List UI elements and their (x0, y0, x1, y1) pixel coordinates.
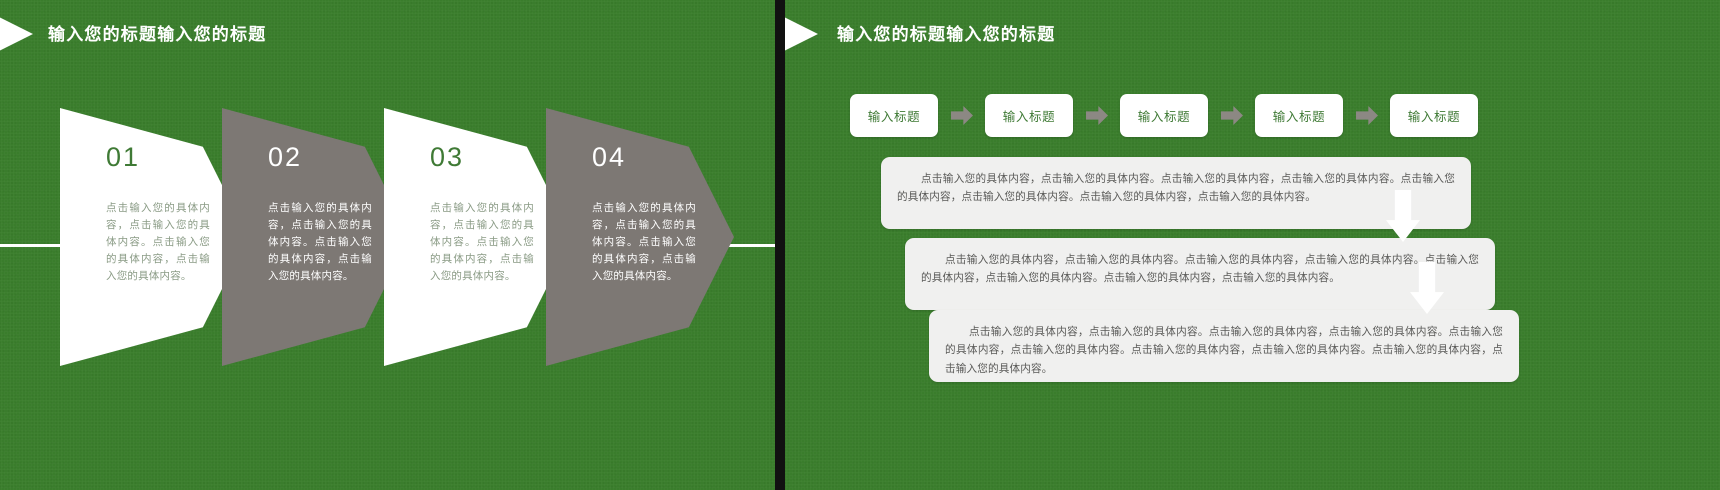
step-box-1[interactable]: 输入标题 (850, 94, 938, 137)
chevron-card-body: 点击输入您的具体内容，点击输入您的具体内容。点击输入您的具体内容，点击输入您的具… (106, 200, 210, 285)
step-box-4[interactable]: 输入标题 (1255, 94, 1343, 137)
slide-gap-divider (775, 0, 785, 490)
content-panel-3[interactable]: 点击输入您的具体内容，点击输入您的具体内容。点击输入您的具体内容，点击输入您的具… (929, 310, 1519, 382)
slide-left: 输入您的标题输入您的标题 01 点击输入您的具体内容，点击输入您的具体内容。点击… (0, 0, 775, 490)
arrow-right-icon (1221, 106, 1243, 125)
chevron-card-01[interactable]: 01 点击输入您的具体内容，点击输入您的具体内容。点击输入您的具体内容，点击输入… (60, 108, 248, 366)
chevron-card-body: 点击输入您的具体内容，点击输入您的具体内容。点击输入您的具体内容，点击输入您的具… (592, 200, 696, 285)
chevron-card-number: 02 (268, 142, 302, 173)
arrow-right-icon (951, 106, 973, 125)
chevron-card-02[interactable]: 02 点击输入您的具体内容，点击输入您的具体内容。点击输入您的具体内容，点击输入… (222, 108, 410, 366)
chevron-card-number: 01 (106, 142, 140, 173)
arrow-right-icon (1086, 106, 1108, 125)
slide-right: 输入您的标题输入您的标题 输入标题 输入标题 输入标题 输入标题 输入标题 点击… (785, 0, 1720, 490)
chevron-card-row: 01 点击输入您的具体内容，点击输入您的具体内容。点击输入您的具体内容，点击输入… (0, 0, 775, 490)
chevron-card-body: 点击输入您的具体内容，点击输入您的具体内容。点击输入您的具体内容，点击输入您的具… (430, 200, 534, 285)
step-box-3[interactable]: 输入标题 (1120, 94, 1208, 137)
chevron-card-number: 04 (592, 142, 626, 173)
chevron-card-04[interactable]: 04 点击输入您的具体内容，点击输入您的具体内容。点击输入您的具体内容，点击输入… (546, 108, 734, 366)
content-panel-2[interactable]: 点击输入您的具体内容，点击输入您的具体内容。点击输入您的具体内容，点击输入您的具… (905, 238, 1495, 310)
content-panel-text: 点击输入您的具体内容，点击输入您的具体内容。点击输入您的具体内容，点击输入您的具… (921, 251, 1479, 288)
arrow-right-icon (1356, 106, 1378, 125)
chevron-card-number: 03 (430, 142, 464, 173)
content-panel-text: 点击输入您的具体内容，点击输入您的具体内容。点击输入您的具体内容，点击输入您的具… (945, 323, 1503, 378)
content-panel-1[interactable]: 点击输入您的具体内容，点击输入您的具体内容。点击输入您的具体内容，点击输入您的具… (881, 157, 1471, 229)
chevron-card-body: 点击输入您的具体内容，点击输入您的具体内容。点击输入您的具体内容，点击输入您的具… (268, 200, 372, 285)
chevron-card-03[interactable]: 03 点击输入您的具体内容，点击输入您的具体内容。点击输入您的具体内容，点击输入… (384, 108, 572, 366)
slide-deck-stage: 输入您的标题输入您的标题 01 点击输入您的具体内容，点击输入您的具体内容。点击… (0, 0, 1720, 490)
step-box-2[interactable]: 输入标题 (985, 94, 1073, 137)
step-box-5[interactable]: 输入标题 (1390, 94, 1478, 137)
content-panel-text: 点击输入您的具体内容，点击输入您的具体内容。点击输入您的具体内容，点击输入您的具… (897, 170, 1455, 207)
